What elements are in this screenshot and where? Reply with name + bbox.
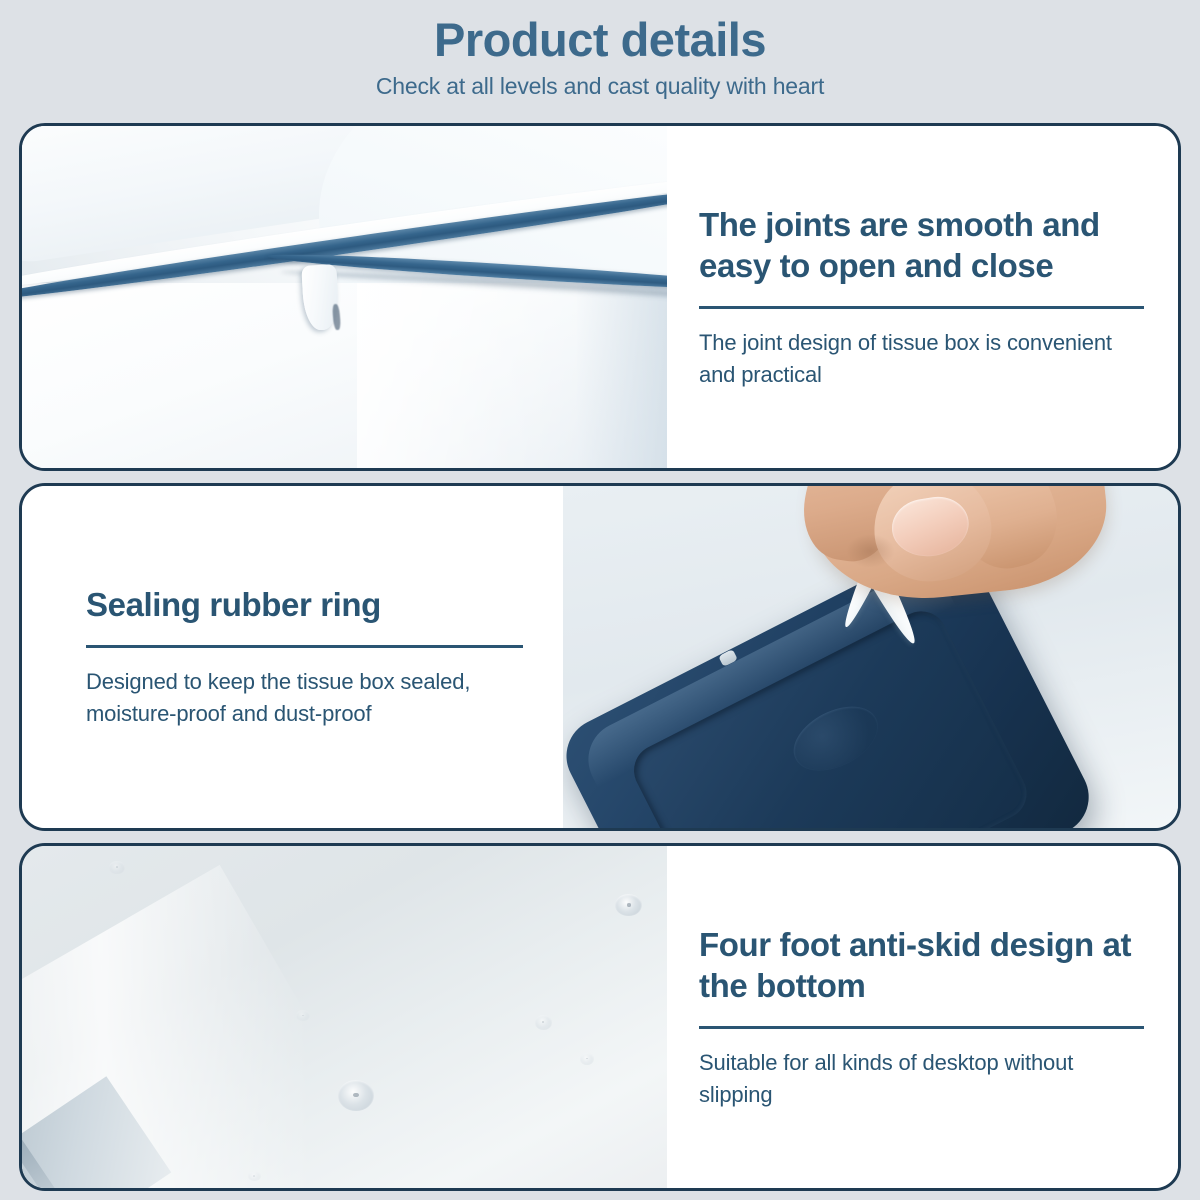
- feature-body: Suitable for all kinds of desktop withou…: [699, 1047, 1144, 1111]
- anti-skid-foot: [615, 894, 642, 917]
- feature-text-anti-skid: Four foot anti-skid design at the bottom…: [667, 846, 1178, 1188]
- navy-lid-circle-detail: [783, 694, 888, 783]
- anti-skid-foot: [535, 1015, 552, 1029]
- foot-center-pin: [586, 1058, 588, 1060]
- anti-skid-foot: [338, 1080, 374, 1111]
- foot-center-pin: [627, 903, 631, 907]
- feature-card-list: The joints are smooth and easy to open a…: [19, 123, 1181, 1191]
- product-details-infographic: Product details Check at all levels and …: [0, 0, 1200, 1200]
- foot-center-pin: [302, 1015, 304, 1017]
- page-subtitle: Check at all levels and cast quality wit…: [0, 73, 1200, 100]
- heading-divider: [699, 1026, 1144, 1029]
- feature-text-joints: The joints are smooth and easy to open a…: [667, 126, 1178, 468]
- anti-skid-foot: [580, 1053, 594, 1065]
- photo-sealing-ring-scene: [563, 486, 1178, 828]
- feature-heading: Four foot anti-skid design at the bottom: [699, 924, 1144, 1007]
- page-title: Product details: [0, 14, 1200, 67]
- foot-center-pin: [542, 1021, 545, 1023]
- box-body-right-shade: [577, 276, 667, 468]
- feature-card-anti-skid: Four foot anti-skid design at the bottom…: [19, 843, 1181, 1191]
- product-photo-sealing-ring: [563, 486, 1178, 828]
- knuckle-shadow: [846, 534, 895, 568]
- feature-heading: Sealing rubber ring: [86, 584, 523, 626]
- box-body-highlight: [357, 283, 576, 468]
- foot-center-pin: [116, 866, 118, 868]
- page-header: Product details Check at all levels and …: [0, 0, 1200, 100]
- product-photo-joints: [22, 126, 667, 468]
- photo-joints-scene: [22, 126, 667, 468]
- heading-divider: [86, 645, 523, 648]
- feature-text-sealing-ring: Sealing rubber ring Designed to keep the…: [22, 486, 563, 828]
- feature-heading: The joints are smooth and easy to open a…: [699, 204, 1144, 287]
- foot-center-pin: [353, 1093, 359, 1098]
- heading-divider: [699, 306, 1144, 309]
- feature-body: Designed to keep the tissue box sealed, …: [86, 666, 523, 730]
- foot-center-pin: [253, 1175, 255, 1177]
- anti-skid-foot: [109, 861, 124, 873]
- feature-card-joints: The joints are smooth and easy to open a…: [19, 123, 1181, 471]
- feature-body: The joint design of tissue box is conven…: [699, 327, 1144, 391]
- feature-card-sealing-ring: Sealing rubber ring Designed to keep the…: [19, 483, 1181, 831]
- anti-skid-foot: [248, 1171, 261, 1181]
- photo-anti-skid-scene: [22, 846, 667, 1188]
- product-photo-anti-skid: [22, 846, 667, 1188]
